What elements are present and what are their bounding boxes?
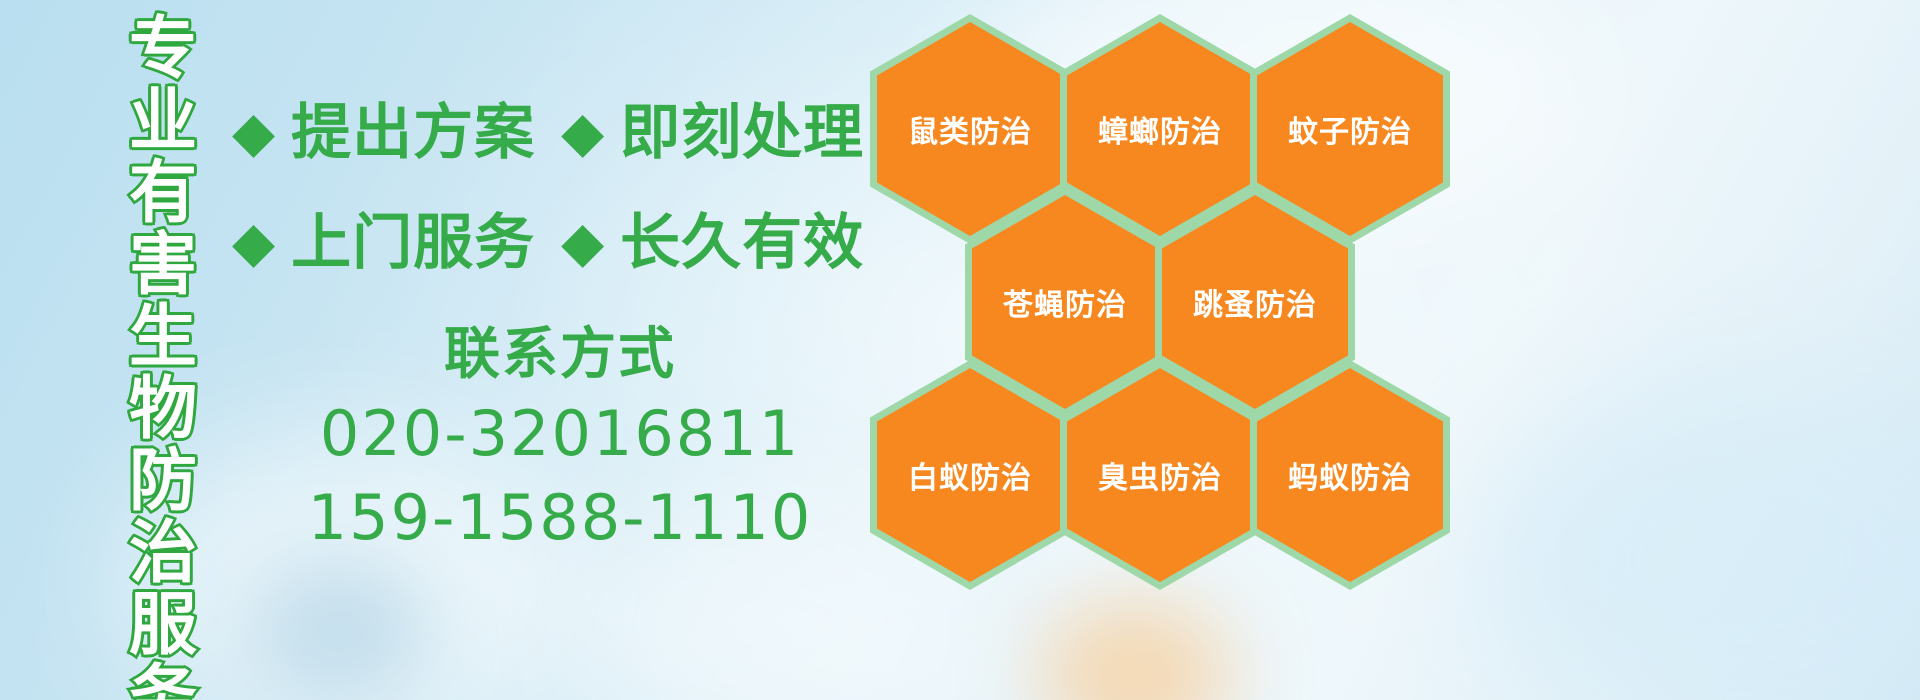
vertical-slogan-char: 专 [129, 14, 197, 86]
feature-label: 即刻处理 [620, 102, 864, 164]
vertical-slogan-char: 业 [129, 86, 197, 158]
feature-label: 提出方案 [291, 102, 535, 164]
hex-inner: 蚂蚁防治 [1257, 368, 1443, 582]
feature-list: ◆ 提出方案 ◆ 即刻处理 ◆ 上门服务 ◆ 长久有效 [232, 78, 872, 298]
hex-inner: 苍蝇防治 [972, 195, 1158, 409]
hex-label: 蚊子防治 [1288, 107, 1412, 151]
vertical-slogan-char: 治 [129, 518, 197, 590]
diamond-icon: ◆ [561, 215, 604, 271]
contact-title: 联系方式 [300, 318, 820, 392]
vertical-slogan-char: 生 [129, 302, 197, 374]
hex-inner: 蟑螂防治 [1067, 22, 1253, 236]
hex-label: 跳蚤防治 [1193, 280, 1317, 324]
vertical-slogan-char: 有 [129, 158, 197, 230]
hex-inner: 蚊子防治 [1257, 22, 1443, 236]
feature-row: ◆ 上门服务 ◆ 长久有效 [232, 188, 872, 298]
hex-label: 蚂蚁防治 [1288, 453, 1412, 497]
pest-control-banner: 专 业 有 害 生 物 防 治 服 务 ◆ 提出方案 ◆ 即刻处理 ◆ 上门服务… [0, 0, 1920, 700]
hex-inner: 白蚁防治 [877, 368, 1063, 582]
vertical-slogan-char: 物 [129, 374, 197, 446]
vertical-slogan-char: 务 [129, 662, 197, 700]
vertical-slogan: 专 业 有 害 生 物 防 治 服 务 [104, 14, 222, 674]
hex-label: 白蚁防治 [908, 453, 1032, 497]
hex-label: 鼠类防治 [908, 107, 1032, 151]
hex-inner: 臭虫防治 [1067, 368, 1253, 582]
diamond-icon: ◆ [232, 215, 275, 271]
feature-label: 长久有效 [620, 212, 864, 274]
background-glow-blob [1480, 380, 1920, 700]
contact-block: 联系方式 020-32016811 159-1588-1110 [300, 318, 820, 560]
hex-label: 臭虫防治 [1098, 453, 1222, 497]
vertical-slogan-char: 服 [129, 590, 197, 662]
background-glow-blob [250, 560, 430, 700]
diamond-icon: ◆ [561, 105, 604, 161]
diamond-icon: ◆ [232, 105, 275, 161]
hex-inner: 鼠类防治 [877, 22, 1063, 236]
vertical-slogan-char: 害 [129, 230, 197, 302]
hex-inner: 跳蚤防治 [1162, 195, 1348, 409]
hex-label: 蟑螂防治 [1098, 107, 1222, 151]
feature-label: 上门服务 [291, 212, 535, 274]
service-hex-grid: 鼠类防治 蟑螂防治 蚊子防治 苍蝇防治 跳蚤防治 白蚁防治 [862, 8, 1462, 658]
contact-phone-landline[interactable]: 020-32016811 [300, 392, 820, 476]
contact-phone-mobile[interactable]: 159-1588-1110 [300, 476, 820, 560]
vertical-slogan-char: 防 [129, 446, 197, 518]
feature-row: ◆ 提出方案 ◆ 即刻处理 [232, 78, 872, 188]
hex-label: 苍蝇防治 [1003, 280, 1127, 324]
